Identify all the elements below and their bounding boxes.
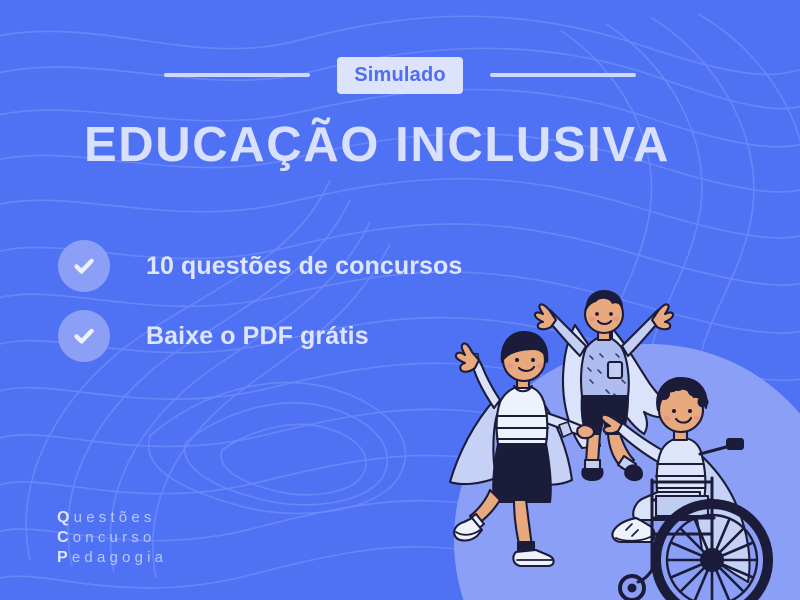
header-row: Simulado [0,56,800,94]
check-circle-icon [58,310,110,362]
logo-line-2-cap: C [57,529,73,546]
logo-line-3-cap: P [57,549,72,566]
logo-line-2-rest: oncurso [73,529,156,546]
check-circle-icon [58,240,110,292]
brand-logo: Questões Concurso Pedagogia [57,508,167,568]
list-item-label: Baixe o PDF grátis [146,322,369,351]
illustration-three-children-superheroes [400,270,800,600]
logo-line-2: Concurso [57,528,167,548]
logo-line-1-cap: Q [57,509,74,526]
logo-line-1-rest: uestões [74,509,156,526]
logo-line-3-rest: edagogia [72,549,167,566]
logo-line-3: Pedagogia [57,548,167,568]
badge-simulado[interactable]: Simulado [337,57,463,94]
logo-line-1: Questões [57,508,167,528]
divider-line-right [490,73,636,77]
poster-canvas: Simulado EDUCAÇÃO INCLUSIVA 10 questões … [0,0,800,600]
page-title: EDUCAÇÃO INCLUSIVA [84,116,744,174]
divider-line-left [164,73,310,77]
